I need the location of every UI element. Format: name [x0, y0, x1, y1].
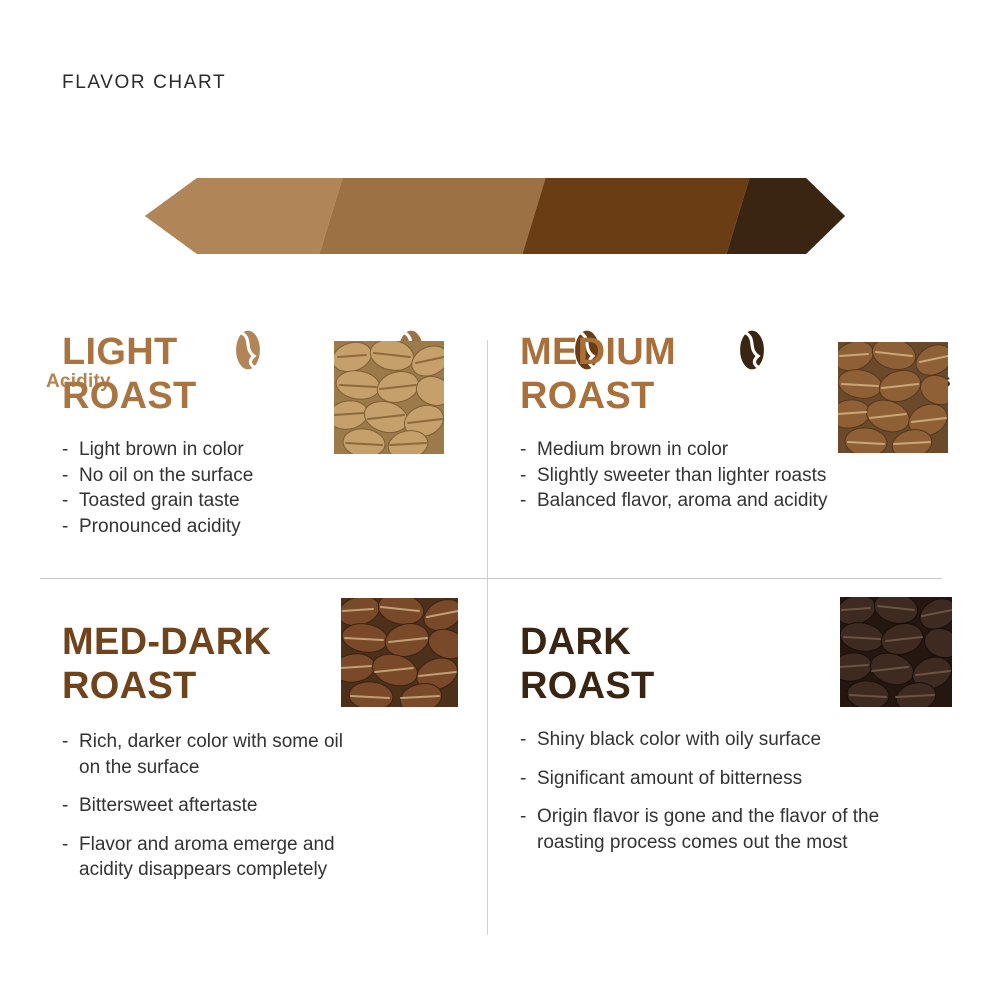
- list-item: Toasted grain taste: [62, 488, 362, 514]
- list-item: Flavor and aroma emerge and acidity disa…: [62, 832, 362, 883]
- list-item: Origin flavor is gone and the flavor of …: [520, 804, 915, 855]
- list-item: Light brown in color: [62, 437, 362, 463]
- arrow-segments: [140, 170, 860, 262]
- list-item: Shiny black color with oily surface: [520, 727, 915, 753]
- quadrant-divider-horizontal: [40, 578, 942, 579]
- roast-gradient-arrow: [0, 160, 1001, 272]
- list-item: Rich, darker color with some oil on the …: [62, 729, 362, 780]
- segment-fill-medium: [317, 170, 548, 262]
- roast-bullet-list: Light brown in color No oil on the surfa…: [62, 437, 362, 540]
- segment-fill-meddark: [520, 170, 752, 262]
- dark-roast-bean-photo: [840, 597, 952, 707]
- roast-bullet-list: Shiny black color with oily surface Sign…: [520, 727, 915, 856]
- roast-bullet-list: Rich, darker color with some oil on the …: [62, 729, 362, 883]
- medium-roast-bean-photo: [838, 342, 948, 453]
- med-dark-roast-bean-photo: [341, 598, 458, 707]
- list-item: Significant amount of bitterness: [520, 766, 915, 792]
- list-item: Pronounced acidity: [62, 514, 362, 540]
- list-item: No oil on the surface: [62, 463, 362, 489]
- list-item: Slightly sweeter than lighter roasts: [520, 463, 920, 489]
- light-roast-bean-photo: [334, 341, 444, 454]
- roast-scale: Acidity Bitterness LIGHT MEDIUM MED-DARK…: [0, 160, 1001, 272]
- list-item: Balanced flavor, aroma and acidity: [520, 488, 920, 514]
- page-title: FLAVOR CHART: [62, 72, 226, 94]
- quadrant-divider-vertical: [487, 340, 488, 935]
- list-item: Bittersweet aftertaste: [62, 793, 362, 819]
